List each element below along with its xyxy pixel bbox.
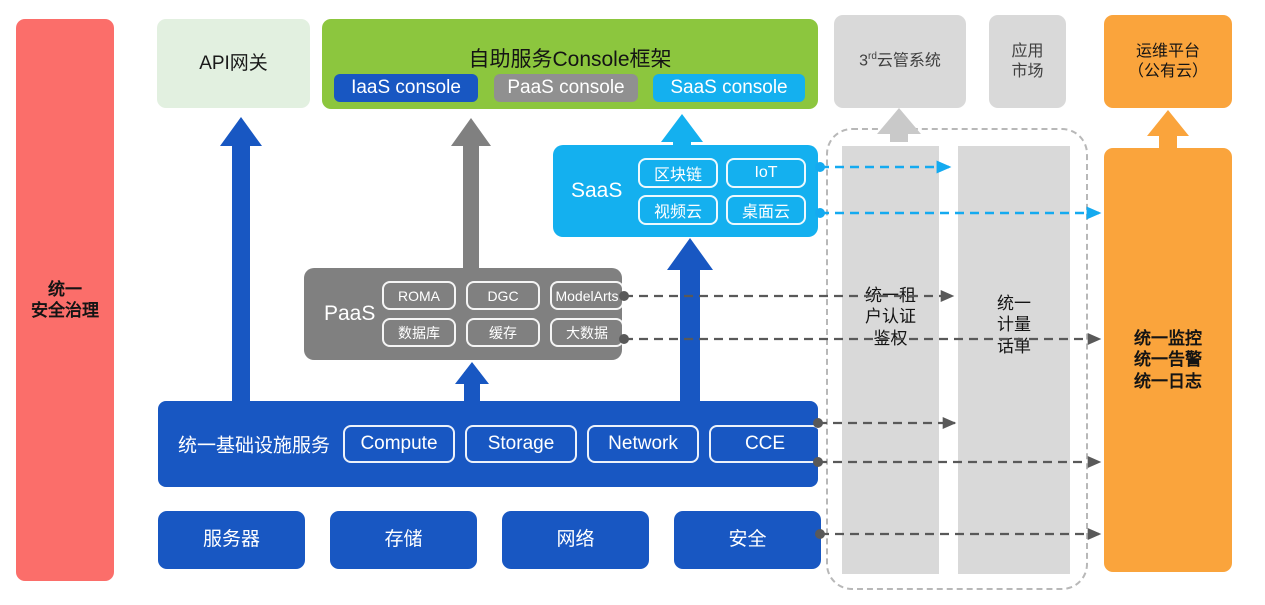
unified-security-governance-panel: 统一 安全治理 bbox=[16, 19, 114, 581]
console-frame-title: 自助服务Console框架 bbox=[322, 43, 818, 73]
api-gateway-label: API网关 bbox=[199, 52, 268, 76]
app-market-line1: 应用 bbox=[1011, 42, 1043, 62]
arrow-paas-to-console bbox=[451, 118, 491, 268]
api-gateway-box: API网关 bbox=[157, 19, 310, 108]
ops-column-line1: 统一监控 bbox=[1134, 328, 1202, 349]
tenant-auth-line2: 户认证 bbox=[865, 306, 916, 327]
unified-metering-label: 统一 计量 话单 bbox=[958, 286, 1070, 364]
architecture-diagram: 统一 安全治理 API网关 自助服务Console框架 IaaS console… bbox=[0, 0, 1265, 605]
ops-platform-line2: （公有云） bbox=[1128, 62, 1208, 82]
third-party-cloud-mgmt-box: 3rd云管系统 bbox=[834, 15, 966, 108]
paas-tile-modelarts[interactable]: ModelArts bbox=[550, 281, 624, 310]
ops-platform-box: 运维平台 （公有云） bbox=[1104, 15, 1232, 108]
ops-column-line2: 统一告警 bbox=[1134, 349, 1202, 370]
arrow-infra-to-saas bbox=[667, 238, 713, 402]
paas-tile-dgc[interactable]: DGC bbox=[466, 281, 540, 310]
paas-layer-label: PaaS bbox=[324, 302, 375, 326]
infra-tile-compute[interactable]: Compute bbox=[343, 425, 455, 463]
saas-console-label: SaaS console bbox=[670, 77, 787, 99]
arrow-infra-to-paas bbox=[455, 362, 489, 402]
unified-monitoring-column: 统一监控 统一告警 统一日志 bbox=[1104, 148, 1232, 572]
saas-tile-iot[interactable]: IoT bbox=[726, 158, 806, 188]
paas-console-chip[interactable]: PaaS console bbox=[494, 74, 638, 102]
ops-column-line3: 统一日志 bbox=[1134, 371, 1202, 392]
saas-tile-blockchain[interactable]: 区块链 bbox=[638, 158, 718, 188]
saas-layer: SaaS 区块链 IoT 视频云 桌面云 bbox=[553, 145, 818, 237]
paas-tile-bigdata[interactable]: 大数据 bbox=[550, 318, 624, 347]
self-service-console-frame: 自助服务Console框架 IaaS console PaaS console … bbox=[322, 19, 818, 109]
infra-tile-storage[interactable]: Storage bbox=[465, 425, 577, 463]
paas-console-label: PaaS console bbox=[507, 77, 624, 99]
app-market-line2: 市场 bbox=[1011, 62, 1043, 82]
infra-tile-network[interactable]: Network bbox=[587, 425, 699, 463]
tenant-auth-line1: 统一租 bbox=[865, 285, 916, 306]
app-market-box: 应用 市场 bbox=[989, 15, 1066, 108]
paas-tile-cache[interactable]: 缓存 bbox=[466, 318, 540, 347]
hardware-box-security: 安全 bbox=[674, 511, 821, 569]
unified-tenant-auth-column bbox=[842, 146, 939, 574]
infra-tile-cce[interactable]: CCE bbox=[709, 425, 821, 463]
unified-tenant-auth-label: 统一租 户认证 鉴权 bbox=[842, 278, 939, 356]
tenant-auth-line3: 鉴权 bbox=[874, 328, 908, 349]
metering-line3: 话单 bbox=[997, 336, 1031, 357]
ops-platform-line1: 运维平台 bbox=[1136, 42, 1200, 62]
third-party-label: 3rd云管系统 bbox=[859, 51, 941, 71]
iaas-console-chip[interactable]: IaaS console bbox=[334, 74, 478, 102]
hardware-box-server: 服务器 bbox=[158, 511, 305, 569]
paas-tile-roma[interactable]: ROMA bbox=[382, 281, 456, 310]
paas-layer: PaaS ROMA DGC ModelArts 数据库 缓存 大数据 bbox=[304, 268, 622, 360]
paas-tile-database[interactable]: 数据库 bbox=[382, 318, 456, 347]
hardware-box-storage: 存储 bbox=[330, 511, 477, 569]
metering-line2: 计量 bbox=[997, 314, 1031, 335]
saas-tile-desktop-cloud[interactable]: 桌面云 bbox=[726, 195, 806, 225]
saas-console-chip[interactable]: SaaS console bbox=[653, 74, 805, 102]
governance-label-line1: 统一 bbox=[48, 279, 82, 300]
hardware-box-network: 网络 bbox=[502, 511, 649, 569]
saas-tile-video-cloud[interactable]: 视频云 bbox=[638, 195, 718, 225]
arrow-to-ops-platform bbox=[1147, 110, 1189, 148]
iaas-console-label: IaaS console bbox=[351, 77, 461, 99]
metering-line1: 统一 bbox=[997, 293, 1031, 314]
governance-label-line2: 安全治理 bbox=[31, 300, 99, 321]
infrastructure-label: 统一基础设施服务 bbox=[178, 431, 330, 458]
unified-infrastructure-bar: 统一基础设施服务 Compute Storage Network CCE bbox=[158, 401, 818, 487]
arrow-infra-to-apigateway bbox=[220, 117, 262, 402]
saas-layer-label: SaaS bbox=[571, 179, 622, 203]
